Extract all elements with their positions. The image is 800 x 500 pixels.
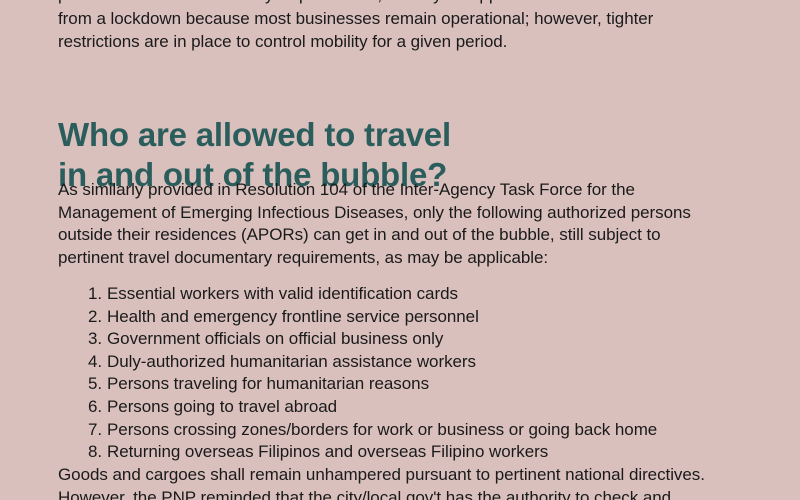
closing-paragraph-clip: Goods and cargoes shall remain unhampere… (58, 464, 728, 500)
list-item-label: Duly-authorized humanitarian assistance … (107, 352, 476, 371)
list-item: 4.Duly-authorized humanitarian assistanc… (88, 351, 708, 374)
list-item-number: 7. (88, 419, 107, 442)
list-item-number: 3. (88, 328, 107, 351)
list-item-number: 1. (88, 283, 107, 306)
list-item-label: Persons going to travel abroad (107, 397, 337, 416)
list-item: 2.Health and emergency frontline service… (88, 306, 708, 329)
list-item: 3.Government officials on official busin… (88, 328, 708, 351)
list-item-number: 2. (88, 306, 107, 329)
closing-paragraph: Goods and cargoes shall remain unhampere… (58, 464, 728, 500)
body-paragraph: As similarly provided in Resolution 104 … (58, 179, 724, 269)
list-item-number: 5. (88, 373, 107, 396)
list-item-label: Health and emergency frontline service p… (107, 307, 479, 326)
clipped-top-line-text: pertinent travel documentary requirement… (58, 0, 547, 6)
list-item: 5.Persons traveling for humanitarian rea… (88, 373, 708, 396)
list-item-label: Persons traveling for humanitarian reaso… (107, 374, 429, 393)
list-item-label: Essential workers with valid identificat… (107, 284, 458, 303)
list-item: 1.Essential workers with valid identific… (88, 283, 708, 306)
apor-list: 1.Essential workers with valid identific… (88, 283, 708, 464)
list-item-label: Government officials on official busines… (107, 329, 443, 348)
list-item-number: 4. (88, 351, 107, 374)
section-heading-line-1: Who are allowed to travel (58, 115, 718, 155)
clipped-top-line: pertinent travel documentary requirement… (58, 0, 654, 6)
list-item-number: 8. (88, 441, 107, 464)
list-item-label: Returning overseas Filipinos and oversea… (107, 442, 548, 461)
list-item: 7.Persons crossing zones/borders for wor… (88, 419, 708, 442)
list-item-number: 6. (88, 396, 107, 419)
intro-paragraph: from a lockdown because most businesses … (58, 8, 722, 53)
list-item: 6.Persons going to travel abroad (88, 396, 708, 419)
document-page: pertinent travel documentary requirement… (0, 0, 800, 500)
list-item: 8.Returning overseas Filipinos and overs… (88, 441, 708, 464)
list-item-label: Persons crossing zones/borders for work … (107, 420, 657, 439)
